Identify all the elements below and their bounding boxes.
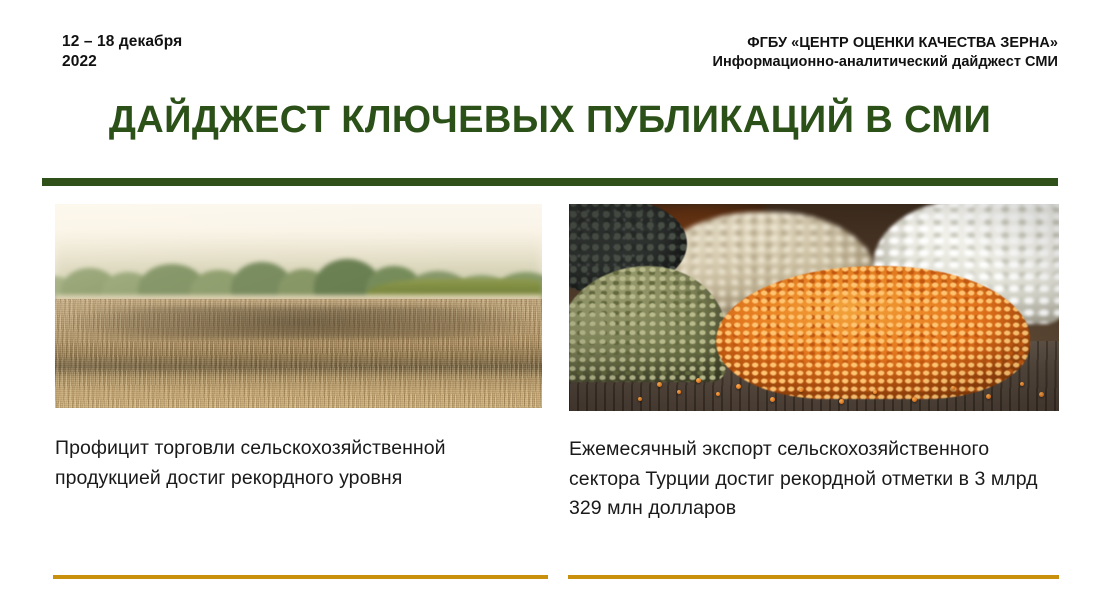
lentils-beans-photo (569, 204, 1059, 411)
gold-divider-right (568, 575, 1059, 579)
header-date-range: 12 – 18 декабря 2022 (62, 32, 182, 72)
article-caption-right[interactable]: Ежемесячный экспорт сельскохозяйственног… (569, 435, 1059, 524)
wheat-field-photo (55, 204, 542, 408)
header-org-name: ФГБУ «ЦЕНТР ОЦЕНКИ КАЧЕСТВА ЗЕРНА» (712, 34, 1058, 53)
article-column-right: Ежемесячный экспорт сельскохозяйственног… (569, 204, 1059, 524)
article-column-left: Профицит торговли сельскохозяйственной п… (55, 204, 542, 493)
gold-divider-left (53, 575, 548, 579)
header-org-subtitle: Информационно-аналитический дайджест СМИ (712, 53, 1058, 72)
header-organization: ФГБУ «ЦЕНТР ОЦЕНКИ КАЧЕСТВА ЗЕРНА» Инфор… (712, 34, 1058, 72)
green-divider-rule (42, 178, 1058, 186)
article-caption-left[interactable]: Профицит торговли сельскохозяйственной п… (55, 434, 542, 493)
page-title: ДАЙДЖЕСТ КЛЮЧЕВЫХ ПУБЛИКАЦИЙ В СМИ (0, 99, 1100, 142)
digest-slide: 12 – 18 декабря 2022 ФГБУ «ЦЕНТР ОЦЕНКИ … (0, 0, 1100, 595)
photo-field-shadow-band (55, 306, 542, 339)
